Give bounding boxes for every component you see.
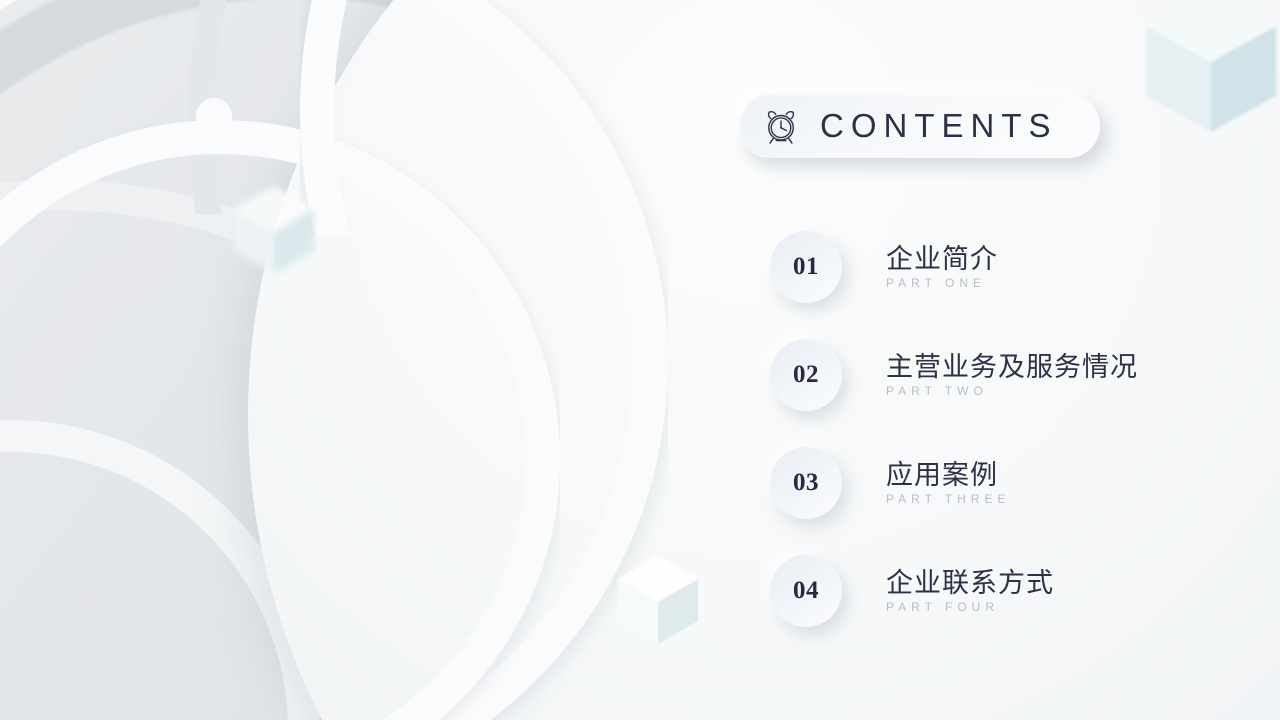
toc-number-03: 03: [793, 469, 819, 497]
toc-number-01: 01: [793, 253, 819, 281]
toc-number-badge-04[interactable]: 04: [770, 555, 842, 627]
toc-title-cn-03: 应用案例: [886, 460, 1010, 490]
contents-title: CONTENTS: [820, 107, 1058, 145]
toc-title-cn-01: 企业简介: [886, 244, 998, 274]
toc-number-badge-03[interactable]: 03: [770, 447, 842, 519]
toc-number-04: 04: [793, 577, 819, 605]
toc-text-03: 应用案例 PART THREE: [886, 460, 1010, 506]
contents-header-pill: CONTENTS: [738, 94, 1100, 158]
toc-title-en-02: PART TWO: [886, 384, 1138, 398]
table-of-contents-list: 01 企业简介 PART ONE 02 主营业务及服务情况 PART TWO: [770, 224, 1250, 634]
toc-title-en-03: PART THREE: [886, 492, 1010, 506]
toc-title-cn-02: 主营业务及服务情况: [886, 352, 1138, 382]
toc-title-en-04: PART FOUR: [886, 600, 1054, 614]
toc-text-02: 主营业务及服务情况 PART TWO: [886, 352, 1138, 398]
toc-title-cn-04: 企业联系方式: [886, 568, 1054, 598]
toc-text-01: 企业简介 PART ONE: [886, 244, 998, 290]
toc-title-en-01: PART ONE: [886, 276, 998, 290]
toc-item-02[interactable]: 02 主营业务及服务情况 PART TWO: [770, 332, 1250, 418]
toc-number-badge-02[interactable]: 02: [770, 339, 842, 411]
slide-content: CONTENTS 01 企业简介 PART ONE 02 主营业务及服务情况 P…: [0, 0, 1280, 720]
toc-number-02: 02: [793, 361, 819, 389]
presentation-slide: CONTENTS 01 企业简介 PART ONE 02 主营业务及服务情况 P…: [0, 0, 1280, 720]
toc-number-badge-01[interactable]: 01: [770, 231, 842, 303]
toc-item-04[interactable]: 04 企业联系方式 PART FOUR: [770, 548, 1250, 634]
toc-text-04: 企业联系方式 PART FOUR: [886, 568, 1054, 614]
toc-item-03[interactable]: 03 应用案例 PART THREE: [770, 440, 1250, 526]
alarm-clock-icon: [760, 105, 802, 147]
toc-item-01[interactable]: 01 企业简介 PART ONE: [770, 224, 1250, 310]
